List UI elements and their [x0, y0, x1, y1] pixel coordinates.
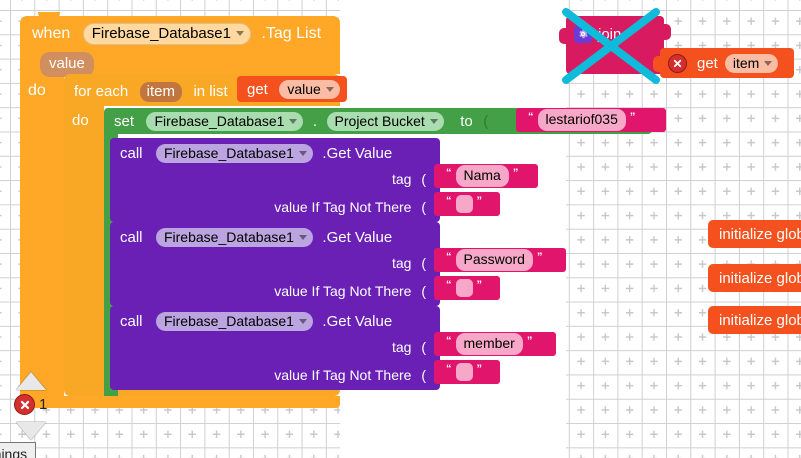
error-x-icon[interactable]	[14, 394, 35, 415]
arg-socket: (	[421, 171, 426, 187]
arg-label: tag	[392, 171, 411, 187]
event-block-header: when Firebase_Database1 .Tag List	[32, 23, 321, 45]
call-header: call Firebase_Database1 .Get Value	[120, 228, 392, 247]
join-block[interactable]: join	[566, 16, 664, 74]
component-name: Firebase_Database1	[164, 230, 294, 244]
do-text: do	[28, 82, 46, 99]
chevron-down-icon[interactable]	[326, 87, 334, 92]
text-value-field[interactable]: lestariof035	[538, 109, 626, 130]
chevron-down-icon[interactable]	[764, 61, 772, 66]
arg-socket: (	[421, 255, 426, 271]
close-quote: ”	[477, 364, 483, 375]
method-name: .Get Value	[322, 229, 392, 246]
component-dropdown-firebase[interactable]: Firebase_Database1	[156, 144, 313, 163]
join-label: join	[598, 26, 621, 43]
foreach-header: for each item in list (	[74, 82, 242, 102]
close-quote: ”	[477, 196, 483, 207]
text-value-field[interactable]: Nama	[456, 165, 509, 186]
close-quote: ”	[537, 252, 543, 263]
gear-icon[interactable]	[574, 25, 592, 43]
init-global-label: initialize glob	[719, 313, 801, 328]
warnings-label[interactable]: rnings	[0, 442, 36, 458]
call-keyword: call	[120, 229, 143, 246]
get-keyword: get	[697, 56, 718, 71]
foreach-prefix: for each	[74, 83, 128, 100]
init-global-label: initialize glob	[719, 271, 801, 286]
component-name: Firebase_Database1	[92, 26, 231, 41]
call-header: call Firebase_Database1 .Get Value	[120, 144, 392, 163]
open-quote: “	[528, 112, 534, 123]
event-do-label: do	[28, 82, 46, 100]
arg-label: value If Tag Not There	[274, 199, 411, 215]
call-arg-default: value If Tag Not There (	[274, 367, 426, 383]
component-dropdown-firebase[interactable]: Firebase_Database1	[156, 312, 313, 331]
text-block-tag-nama[interactable]: “ Nama ”	[434, 164, 538, 188]
chevron-down-icon[interactable]	[299, 319, 307, 324]
call-block-get-value-3[interactable]: call Firebase_Database1 .Get Value tag (…	[110, 306, 440, 390]
call-header: call Firebase_Database1 .Get Value	[120, 312, 392, 331]
block-plug-left	[559, 28, 567, 44]
get-keyword: get	[247, 81, 268, 98]
set-keyword: set	[114, 113, 134, 130]
open-quote: “	[446, 280, 452, 291]
initialize-global-block-2[interactable]: initialize glob	[708, 264, 801, 292]
arg-socket: (	[421, 367, 426, 383]
chevron-down-icon[interactable]	[236, 31, 244, 36]
text-value-field[interactable]	[456, 279, 473, 297]
event-name: .Tag List	[261, 25, 321, 42]
triangle-down-icon[interactable]	[16, 422, 46, 440]
error-count: 1	[39, 396, 47, 413]
call-block-get-value-2[interactable]: call Firebase_Database1 .Get Value tag (…	[110, 222, 440, 306]
arg-socket: (	[421, 339, 426, 355]
block-plug-left	[653, 56, 661, 72]
text-block-empty-3[interactable]: “ ”	[434, 360, 500, 384]
variable-name: value	[287, 82, 320, 96]
set-value-socket: (	[483, 113, 488, 130]
component-name: Firebase_Database1	[164, 314, 294, 328]
join-label-wrap: join	[598, 26, 621, 44]
error-x-glyph	[19, 399, 31, 411]
join-socket-1[interactable]	[662, 24, 671, 40]
loop-var-name: item	[147, 84, 175, 99]
component-dropdown-firebase[interactable]: Firebase_Database1	[83, 23, 251, 45]
text-block-empty-2[interactable]: “ ”	[434, 276, 500, 300]
variable-name: item	[733, 56, 759, 70]
close-quote: ”	[630, 112, 636, 123]
text-block-tag-member[interactable]: “ member ”	[434, 332, 556, 356]
arg-label: tag	[392, 255, 411, 271]
blocks-workspace[interactable]: when Firebase_Database1 .Tag List value …	[0, 0, 801, 458]
foreach-do-label: do	[72, 112, 89, 130]
method-name: .Get Value	[322, 313, 392, 330]
arg-label: tag	[392, 339, 411, 355]
text-block-empty-1[interactable]: “ ”	[434, 192, 500, 216]
call-arg-default: value If Tag Not There (	[274, 283, 426, 299]
chevron-down-icon[interactable]	[299, 151, 307, 156]
do-text: do	[72, 112, 89, 129]
text-value-field[interactable]	[456, 195, 473, 213]
foreach-loop-variable[interactable]: item	[140, 82, 182, 102]
arg-label: value If Tag Not There	[274, 283, 411, 299]
component-dropdown-firebase[interactable]: Firebase_Database1	[146, 112, 303, 131]
triangle-up-icon[interactable]	[16, 372, 46, 390]
when-keyword: when	[32, 25, 70, 42]
property-name: Project Bucket	[335, 114, 425, 128]
text-block-bucket-name[interactable]: “ lestariof035 ”	[516, 108, 666, 132]
call-block-get-value-1[interactable]: call Firebase_Database1 .Get Value tag (…	[110, 138, 440, 222]
text-value-field[interactable]: Password	[456, 249, 533, 270]
get-variable-value-block[interactable]: get value	[237, 76, 347, 102]
property-dropdown-project-bucket[interactable]: Project Bucket	[327, 112, 444, 131]
gear-glyph	[577, 28, 589, 40]
text-block-tag-password[interactable]: “ Password ”	[434, 248, 566, 272]
arg-label: value If Tag Not There	[274, 367, 411, 383]
open-quote: “	[446, 252, 452, 263]
call-arg-default: value If Tag Not There (	[274, 199, 426, 215]
error-x-glyph	[672, 58, 683, 69]
close-quote: ”	[527, 336, 533, 347]
chevron-down-icon[interactable]	[299, 235, 307, 240]
chevron-down-icon[interactable]	[430, 119, 438, 124]
text-value-field[interactable]	[456, 363, 473, 381]
call-arg-tag: tag (	[392, 171, 426, 187]
variable-dropdown-value[interactable]: value	[279, 80, 339, 99]
component-name: Firebase_Database1	[164, 146, 294, 160]
get-variable-item-block[interactable]: get item	[660, 48, 794, 78]
close-quote: ”	[477, 280, 483, 291]
close-quote: ”	[513, 168, 519, 179]
dot-separator: .	[313, 113, 317, 130]
component-dropdown-firebase[interactable]: Firebase_Database1	[156, 228, 313, 247]
call-arg-tag: tag (	[392, 255, 426, 271]
component-name: Firebase_Database1	[154, 114, 284, 128]
open-quote: “	[446, 196, 452, 207]
init-global-label: initialize glob	[719, 227, 801, 242]
foreach-in-list-label: in list	[193, 83, 227, 100]
initialize-global-block-1[interactable]: initialize glob	[708, 220, 801, 248]
to-label: to	[460, 113, 473, 130]
open-quote: “	[446, 168, 452, 179]
open-quote: “	[446, 364, 452, 375]
call-keyword: call	[120, 313, 143, 330]
warning-indicator-panel[interactable]: 1 rnings	[8, 372, 138, 458]
text-value-field[interactable]: member	[456, 333, 523, 354]
error-x-icon[interactable]	[668, 54, 687, 73]
call-keyword: call	[120, 145, 143, 162]
initialize-global-block-3[interactable]: initialize glob	[708, 306, 801, 334]
arg-socket: (	[421, 283, 426, 299]
arg-socket: (	[421, 199, 426, 215]
chevron-down-icon[interactable]	[289, 119, 297, 124]
open-quote: “	[446, 336, 452, 347]
method-name: .Get Value	[322, 145, 392, 162]
event-parameter-label: value	[49, 55, 85, 72]
call-arg-tag: tag (	[392, 339, 426, 355]
warnings-text: rnings	[0, 446, 27, 458]
variable-dropdown-item[interactable]: item	[725, 54, 778, 73]
error-count-row[interactable]: 1	[14, 394, 47, 415]
